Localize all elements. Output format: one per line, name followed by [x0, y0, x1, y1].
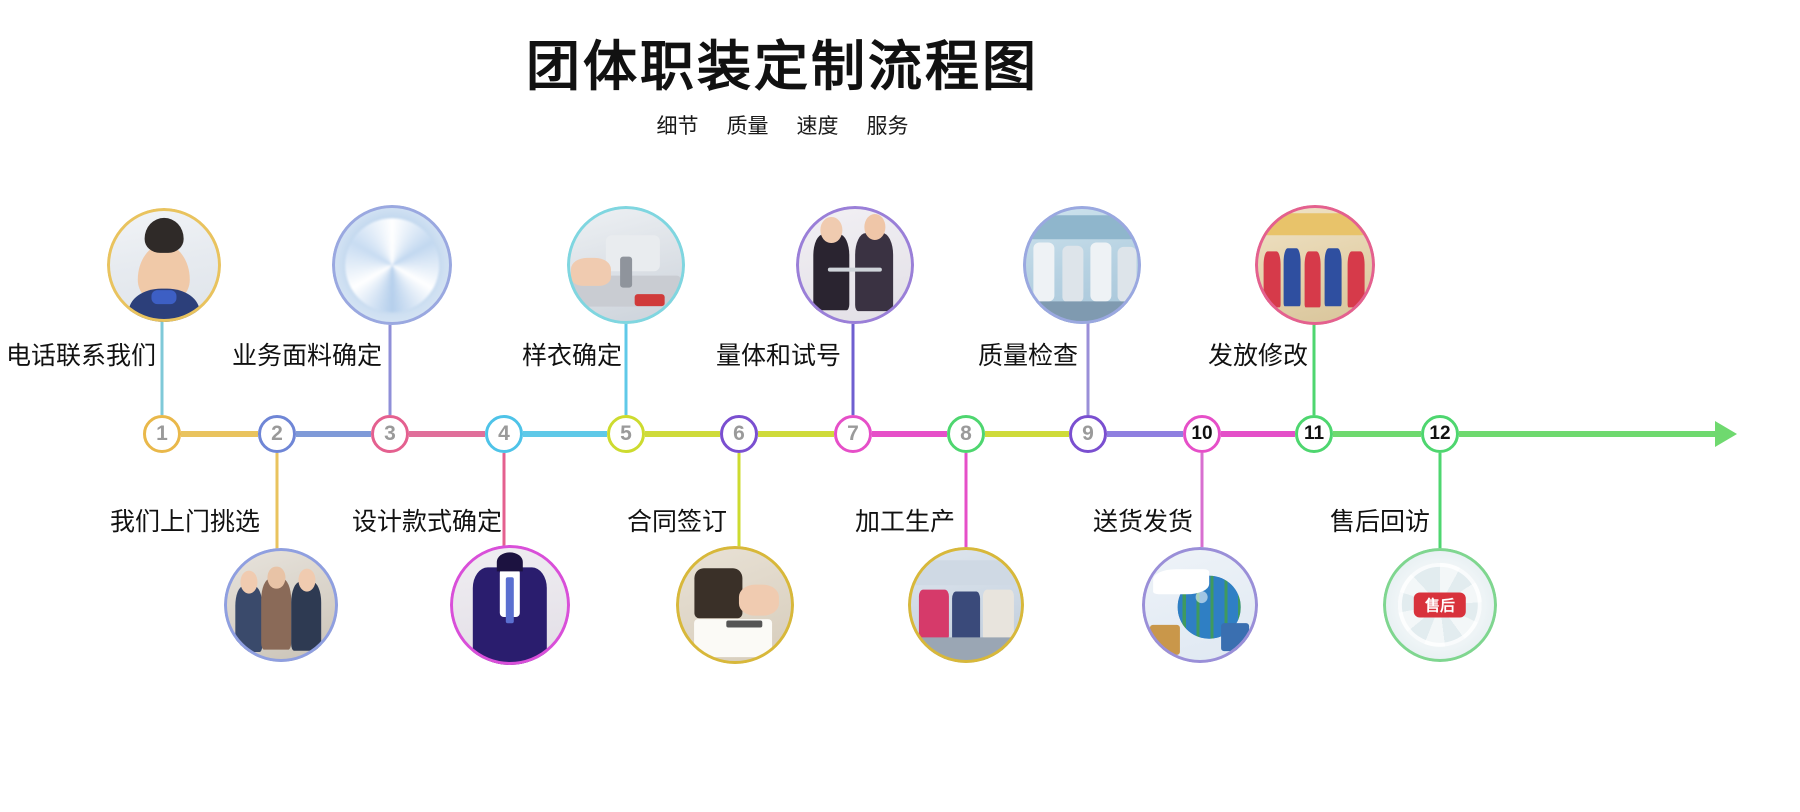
timeline-node-7[interactable]: 7 [834, 415, 872, 453]
photo-ring-4 [450, 545, 570, 665]
photo-ring-9 [1023, 206, 1141, 324]
infographic-canvas: 团体职装定制流程图 细节质量速度服务 1电话联系我们2我们上门挑选3业务面料确定… [0, 0, 1800, 812]
fabric-swatch-photo [332, 205, 452, 325]
photo-ring-7 [796, 206, 914, 324]
timeline-node-12[interactable]: 12 [1421, 415, 1459, 453]
delivery-shipping-photo [1142, 547, 1258, 663]
timeline-arrow-head [1715, 421, 1737, 447]
timeline-node-6[interactable]: 6 [720, 415, 758, 453]
suit-design-photo [450, 545, 570, 665]
photo-ring-5 [567, 206, 685, 324]
photo-ring-12 [1383, 548, 1497, 662]
photo-ring-11 [1255, 205, 1375, 325]
contract-signing-photo [676, 546, 794, 664]
sewing-machine-photo [567, 206, 685, 324]
timeline-node-5[interactable]: 5 [607, 415, 645, 453]
step-label-9: 质量检查 [978, 336, 1078, 372]
subtitle-item-3: 速度 [797, 115, 839, 138]
timeline-node-8[interactable]: 8 [947, 415, 985, 453]
step-label-12: 售后回访 [1330, 502, 1430, 538]
step-label-6: 合同签订 [627, 502, 727, 538]
step-label-7: 量体和试号 [716, 336, 841, 372]
subtitle-item-4: 服务 [867, 115, 909, 138]
photo-ring-6 [676, 546, 794, 664]
photo-ring-1 [107, 208, 221, 322]
body-measuring-photo [796, 206, 914, 324]
photo-ring-10 [1142, 547, 1258, 663]
timeline-node-2[interactable]: 2 [258, 415, 296, 453]
onsite-selection-photo [224, 548, 338, 662]
timeline-node-4[interactable]: 4 [485, 415, 523, 453]
step-label-5: 样衣确定 [522, 336, 622, 372]
step-label-8: 加工生产 [855, 502, 955, 538]
phone-consultant-photo [107, 208, 221, 322]
timeline-node-1[interactable]: 1 [143, 415, 181, 453]
step-label-11: 发放修改 [1208, 336, 1308, 372]
subtitle-item-1: 细节 [657, 115, 699, 138]
timeline-node-9[interactable]: 9 [1069, 415, 1107, 453]
page-subtitle: 细节质量速度服务 [0, 110, 1565, 140]
page-title: 团体职装定制流程图 [0, 22, 1565, 101]
photo-ring-2 [224, 548, 338, 662]
step-label-1: 电话联系我们 [6, 336, 156, 372]
step-label-10: 送货发货 [1093, 502, 1193, 538]
step-label-4: 设计款式确定 [352, 502, 502, 538]
photo-ring-8 [908, 547, 1024, 663]
factory-production-photo [908, 547, 1024, 663]
timeline-node-10[interactable]: 10 [1183, 415, 1221, 453]
photo-ring-3 [332, 205, 452, 325]
timeline-node-11[interactable]: 11 [1295, 415, 1333, 453]
timeline-node-3[interactable]: 3 [371, 415, 409, 453]
quality-inspection-photo [1023, 206, 1141, 324]
step-label-2: 我们上门挑选 [110, 502, 260, 538]
step-label-3: 业务面料确定 [232, 336, 382, 372]
subtitle-item-2: 质量 [727, 115, 769, 138]
after-sales-photo: 售后 [1383, 548, 1497, 662]
uniform-team-photo [1255, 205, 1375, 325]
